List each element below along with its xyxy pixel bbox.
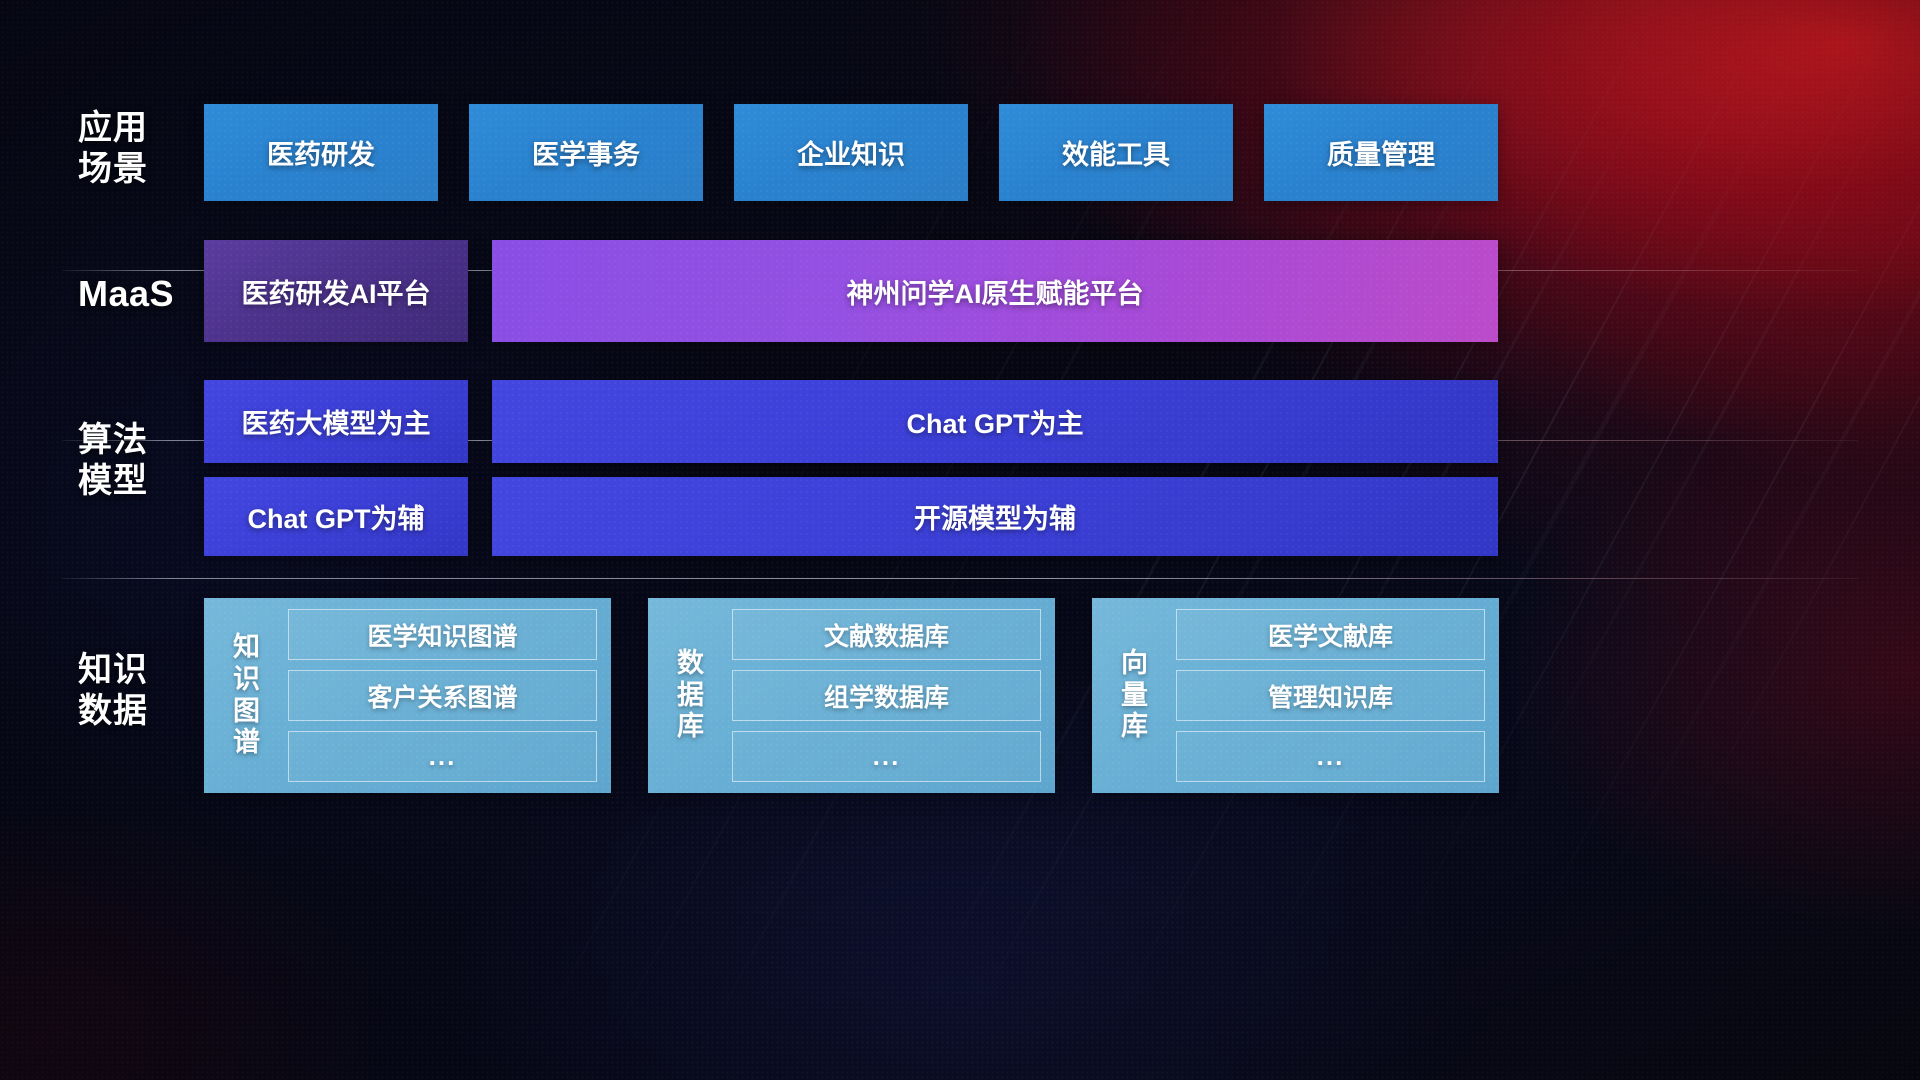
maas-label-pharma-ai-platform: 医药研发AI平台 [242,272,431,311]
scenario-box-2[interactable]: 医学事务 [469,104,703,201]
maas-box-pharma-ai-platform[interactable]: 医药研发AI平台 [204,240,468,342]
algo-label-opensource-secondary: 开源模型为辅 [914,497,1076,536]
row-label-algorithm-models: 算法模型 [78,420,208,503]
scenario-box-4[interactable]: 效能工具 [999,104,1233,201]
maas-label-shenzhou-wenxue-platform: 神州问学AI原生赋能平台 [847,272,1144,311]
knowledge-item-list-knowledge-graph: 医学知识图谱 客户关系图谱 ... [288,609,597,782]
row-label-maas: MaaS [78,272,208,316]
knowledge-item[interactable]: 客户关系图谱 [288,670,597,721]
knowledge-item-more[interactable]: ... [732,731,1041,782]
knowledge-item[interactable]: 文献数据库 [732,609,1041,660]
maas-box-shenzhou-wenxue-platform[interactable]: 神州问学AI原生赋能平台 [492,240,1498,342]
algo-box-chatgpt-secondary[interactable]: Chat GPT为辅 [204,477,468,556]
algo-box-chatgpt-primary[interactable]: Chat GPT为主 [492,380,1498,463]
knowledge-panel-vector-store[interactable]: 向量库 医学文献库 管理知识库 ... [1092,598,1499,793]
knowledge-panel-side-label-vector-store: 向量库 [1104,609,1166,782]
scenario-box-1[interactable]: 医药研发 [204,104,438,201]
algo-box-opensource-secondary[interactable]: 开源模型为辅 [492,477,1498,556]
architecture-diagram: 应用场景 医药研发 医学事务 企业知识 效能工具 质量管理 MaaS 医药研发A… [0,0,1920,1080]
scenario-label-5: 质量管理 [1327,133,1435,172]
knowledge-item-more[interactable]: ... [1176,731,1485,782]
scenario-label-3: 企业知识 [797,133,905,172]
algo-label-chatgpt-secondary: Chat GPT为辅 [247,497,424,536]
knowledge-item-more[interactable]: ... [288,731,597,782]
scenario-label-2: 医学事务 [532,133,640,172]
knowledge-item-list-vector-store: 医学文献库 管理知识库 ... [1176,609,1485,782]
divider-3 [62,578,1858,579]
knowledge-panel-database[interactable]: 数据库 文献数据库 组学数据库 ... [648,598,1055,793]
knowledge-panel-side-label-knowledge-graph: 知识图谱 [216,609,278,782]
knowledge-item[interactable]: 医学知识图谱 [288,609,597,660]
knowledge-item[interactable]: 医学文献库 [1176,609,1485,660]
algo-box-pharma-llm-primary[interactable]: 医药大模型为主 [204,380,468,463]
scenario-box-3[interactable]: 企业知识 [734,104,968,201]
scenario-label-4: 效能工具 [1062,133,1170,172]
knowledge-item[interactable]: 管理知识库 [1176,670,1485,721]
knowledge-item-list-database: 文献数据库 组学数据库 ... [732,609,1041,782]
knowledge-panel-knowledge-graph[interactable]: 知识图谱 医学知识图谱 客户关系图谱 ... [204,598,611,793]
algo-label-pharma-llm-primary: 医药大模型为主 [242,402,431,441]
row-label-knowledge-data: 知识数据 [78,650,208,733]
knowledge-panel-side-label-database: 数据库 [660,609,722,782]
scenario-label-1: 医药研发 [267,133,375,172]
knowledge-item[interactable]: 组学数据库 [732,670,1041,721]
row-label-application-scenarios: 应用场景 [78,108,208,191]
algo-label-chatgpt-primary: Chat GPT为主 [906,402,1083,441]
scenario-box-5[interactable]: 质量管理 [1264,104,1498,201]
